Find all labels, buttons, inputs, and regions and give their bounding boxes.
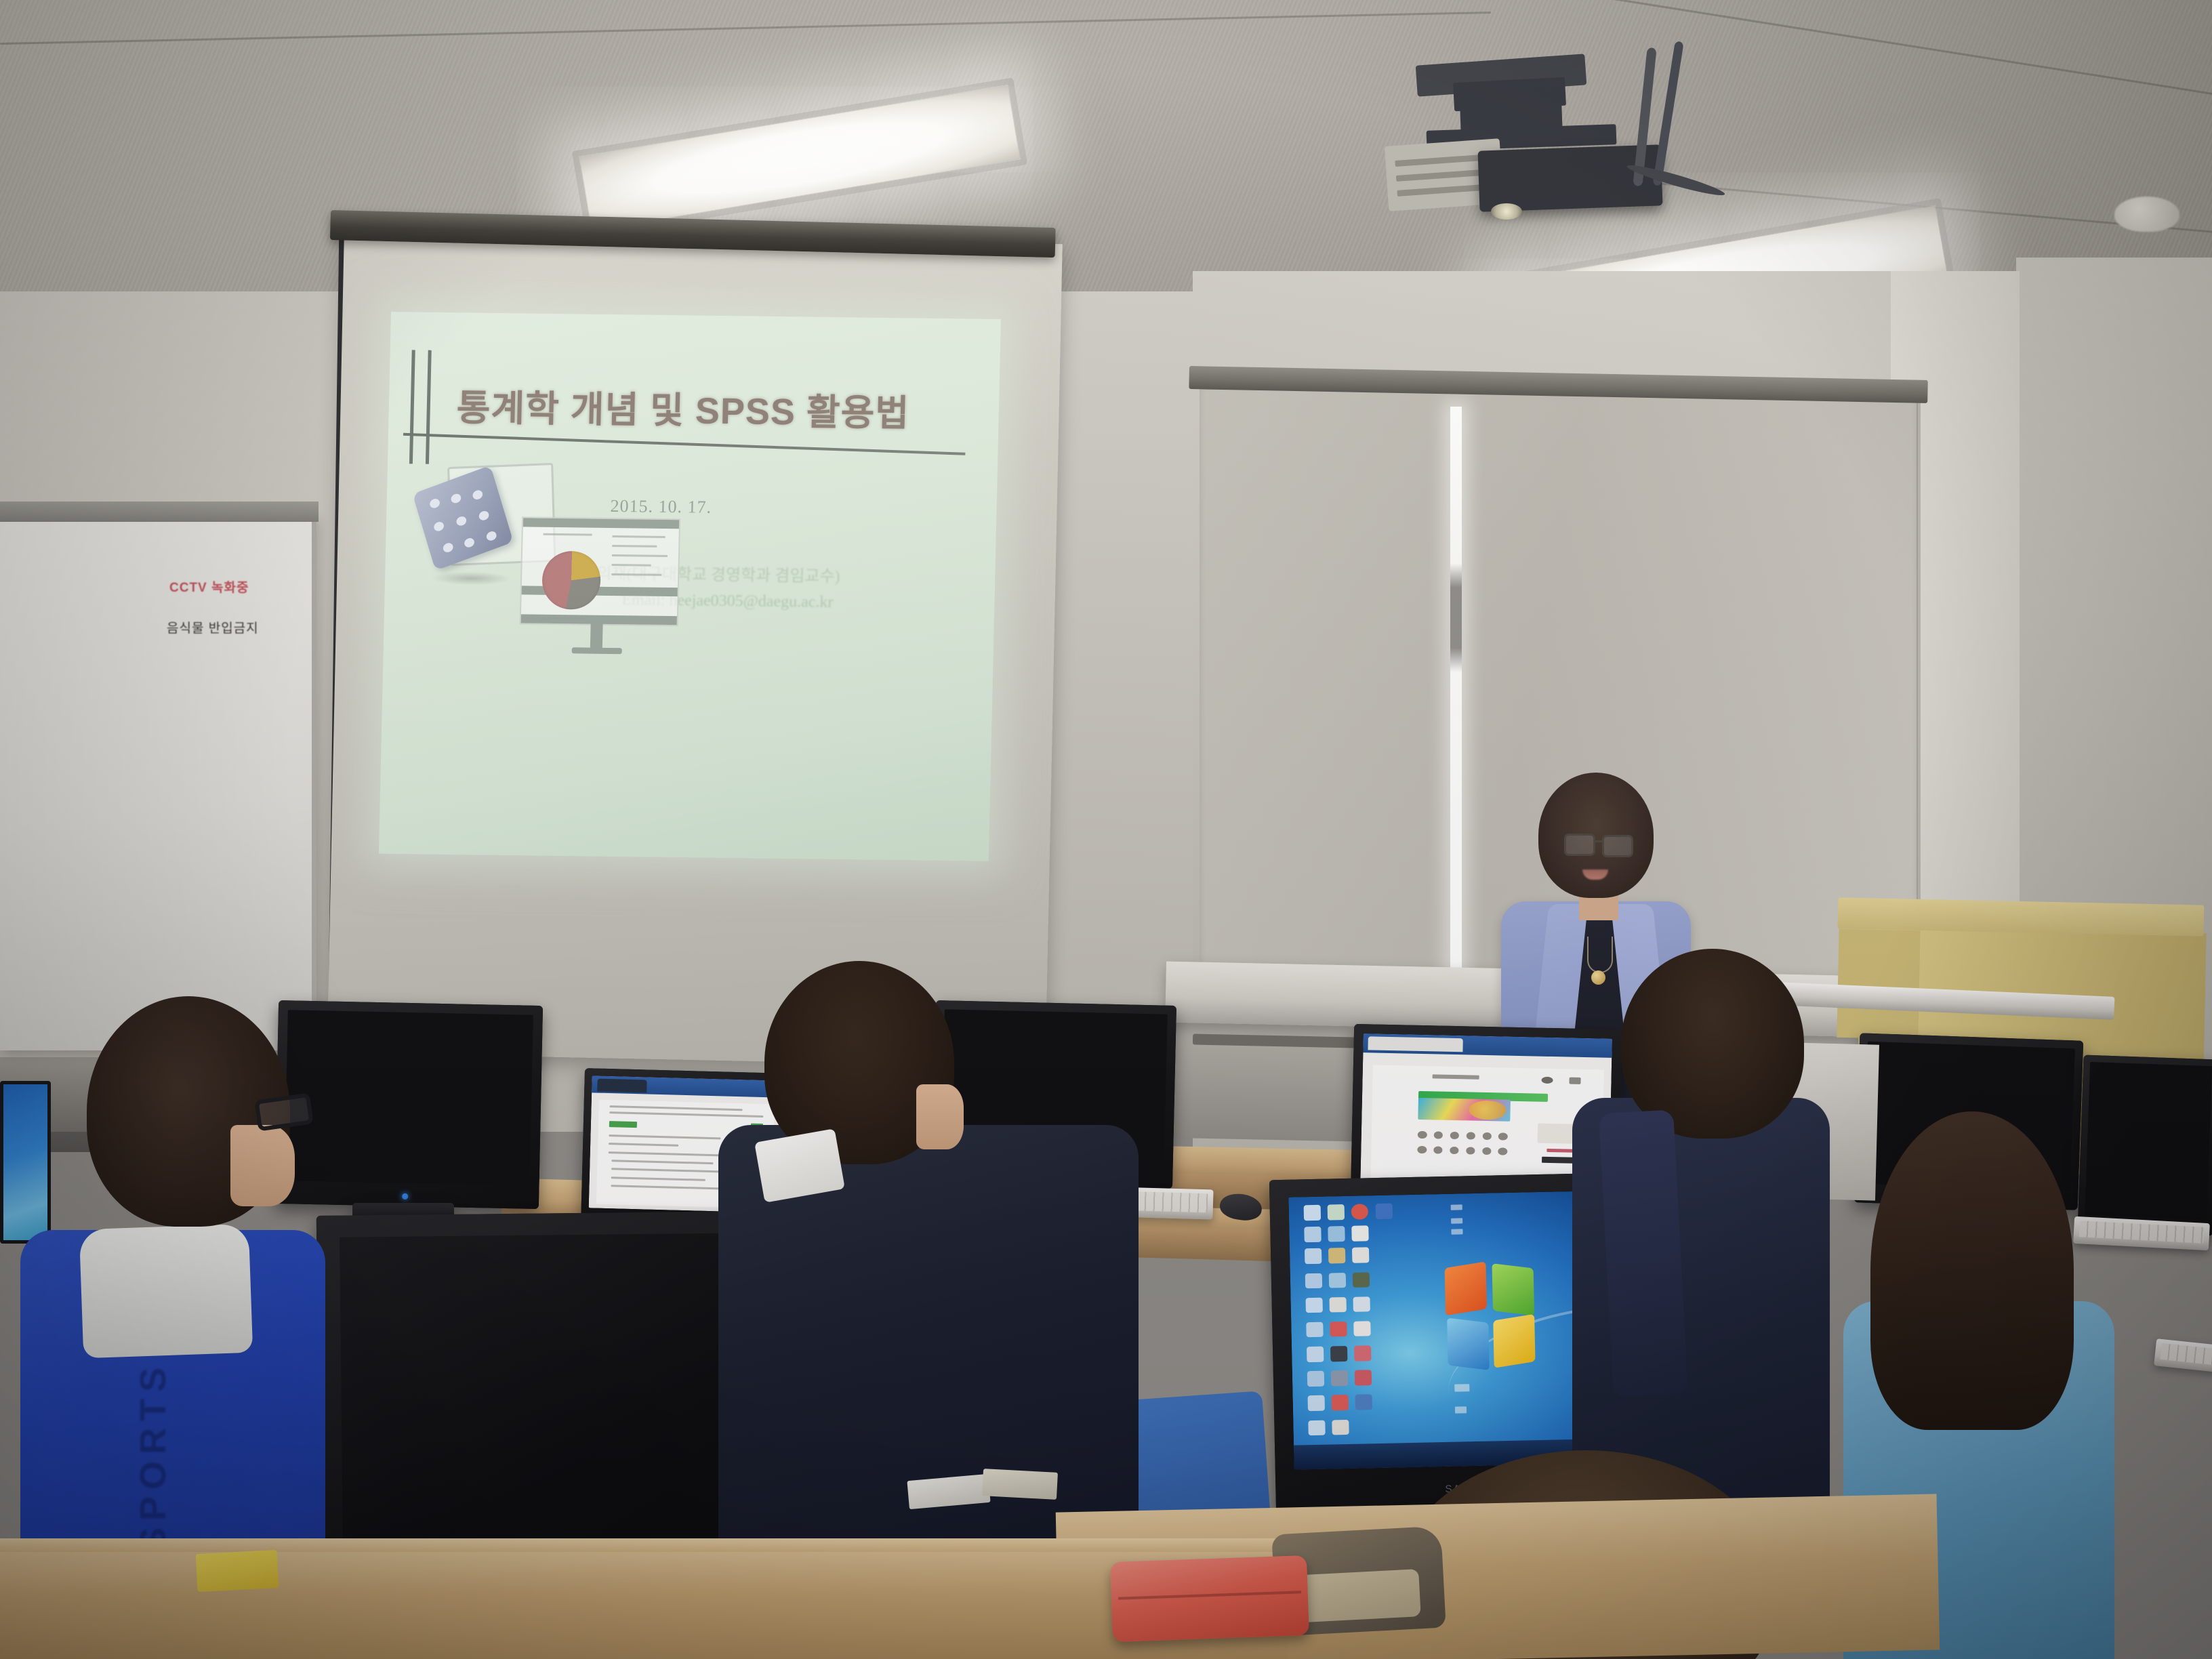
student-right-back-head — [1621, 949, 1804, 1139]
screen-content-off — [285, 1010, 533, 1186]
smoke-detector — [2114, 197, 2179, 232]
keyboard[interactable] — [2154, 1338, 2212, 1372]
paper-slip — [982, 1469, 1058, 1500]
lectern-side — [1837, 929, 1920, 1039]
glasses-lens-left — [1564, 834, 1595, 856]
slide-accent-bar — [409, 350, 415, 464]
necklace-pendant — [1591, 970, 1605, 985]
monitor-far-right-b[interactable] — [2078, 1055, 2212, 1236]
whiteboard-notice-cctv: CCTV 녹화중 — [169, 577, 249, 596]
slide-title: 통계학 개념 및 SPSS 활용법 — [456, 377, 972, 437]
screen-content-off — [2085, 1062, 2212, 1219]
slide-board-foot — [572, 647, 622, 654]
slide-board-stand — [590, 623, 603, 650]
monitor-far-left — [0, 1081, 51, 1244]
student-front-left-face — [230, 1125, 295, 1206]
whiteboard-top-rail — [0, 501, 319, 522]
glasses-lens-right — [1602, 835, 1633, 857]
whiteboard — [0, 515, 316, 1050]
canvas-bag-fabric — [1290, 1569, 1420, 1623]
necklace-chain — [1587, 937, 1613, 973]
blind-light-gap — [1450, 407, 1462, 1010]
monitor-back-left[interactable] — [274, 1000, 543, 1209]
jacket-lettering: SPORTS — [132, 1328, 180, 1552]
student-center-face — [916, 1084, 964, 1149]
glasses-bridge — [1593, 840, 1603, 842]
slide-pie-chart — [541, 551, 601, 610]
sticker-yellow — [196, 1550, 279, 1592]
student-right-front-hair — [1870, 1111, 2074, 1430]
student-right-back-strap — [1599, 1109, 1688, 1397]
slide-date: 2015. 10. 17. — [610, 496, 712, 518]
presentation-board-graphic — [520, 516, 681, 626]
slide-dice-shadow — [431, 571, 511, 586]
classroom-photo: 통계학 개념 및 SPSS 활용법 2015. 10. 17. 허의재(대구대학… — [0, 0, 2212, 1659]
screen-content-win7 — [3, 1084, 47, 1240]
projector-lens — [1491, 203, 1522, 220]
whiteboard-notice-food: 음식물 반입금지 — [167, 618, 259, 636]
desk-front-left — [0, 1552, 1288, 1659]
slide-accent-bar — [426, 350, 432, 464]
projected-slide: 통계학 개념 및 SPSS 활용법 2015. 10. 17. 허의재(대구대학… — [379, 312, 1001, 861]
